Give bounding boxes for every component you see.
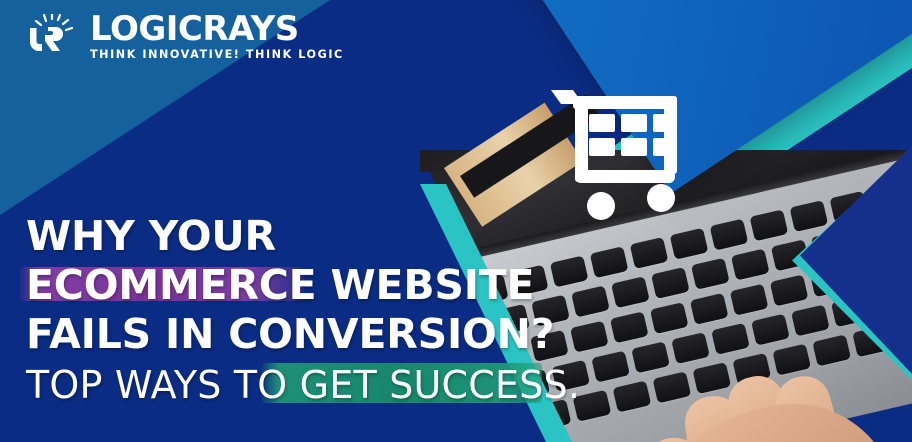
headline-line-3: FAILS IN CONVERSION?	[26, 310, 546, 359]
headline-line-4-text: TOP WAYS TO GET SUCCESS.	[26, 363, 580, 407]
shopping-cart-icon	[545, 78, 695, 228]
logo-word-logic: LOGIC	[90, 12, 202, 46]
headline-line-4: TOP WAYS TO GET SUCCESS.	[26, 359, 546, 411]
logicrays-logo[interactable]: LOGIC RAYS THINK INNOVATIVE! THINK LOGIC	[24, 12, 344, 61]
logo-word-rays: RAYS	[202, 12, 298, 46]
promotional-banner: Checkout Show this barcode at cashier to…	[0, 0, 912, 442]
headline-line-2: ECOMMERCE WEBSITE	[26, 261, 546, 310]
headline-line-3-text: FAILS IN CONVERSION?	[26, 310, 554, 358]
headline-block: WHY YOUR ECOMMERCE WEBSITE FAILS IN CONV…	[26, 212, 546, 411]
headline-line-2-text: ECOMMERCE WEBSITE	[26, 261, 534, 309]
logicrays-lr-rays-mark	[24, 14, 82, 60]
logo-tagline: THINK INNOVATIVE! THINK LOGIC	[90, 48, 344, 61]
headline-line-1-text: WHY YOUR	[26, 212, 276, 260]
logo-wordmark: LOGIC RAYS	[90, 12, 344, 46]
headline-line-1: WHY YOUR	[26, 212, 546, 261]
